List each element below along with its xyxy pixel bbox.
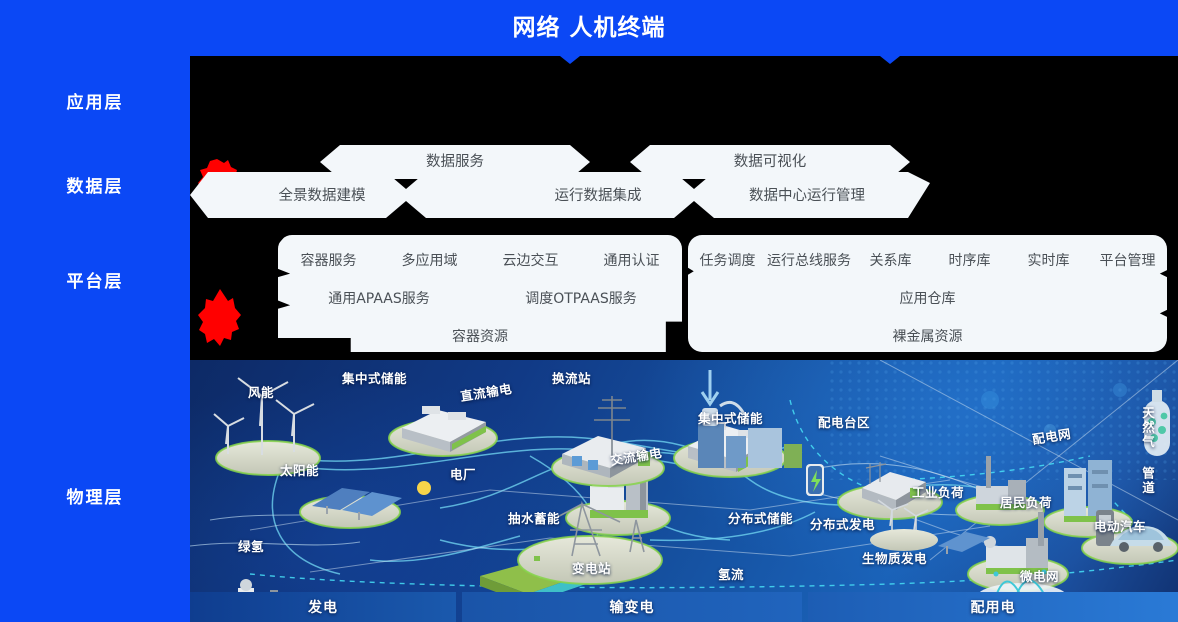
phys-label-pumped-storage: 抽水蓄能 [508, 508, 560, 527]
platform-item-multi-app-domain[interactable]: 多应用域 [379, 250, 480, 270]
phys-label-central-storage-2: 集中式储能 [698, 408, 763, 427]
platform-item-bare-metal[interactable]: 裸金属资源 [688, 326, 1167, 346]
platform-item-container-service[interactable]: 容器服务 [278, 250, 379, 270]
platform-right-row-services: 任务调度 运行总线服务 关系库 时序库 实时库 平台管理 [688, 247, 1167, 273]
section-band-transmission: 输变电 [462, 592, 802, 622]
stage-notch-left-icon [560, 56, 580, 64]
platform-item-cloud-edge[interactable]: 云边交互 [480, 250, 581, 270]
platform-left-row-services: 容器服务 多应用域 云边交互 通用认证 [278, 247, 682, 273]
chevron-label-data-service: 数据服务 [426, 153, 484, 170]
platform-item-relational-db[interactable]: 关系库 [851, 250, 930, 270]
platform-item-runtime-bus[interactable]: 运行总线服务 [767, 250, 851, 270]
phys-label-electric-vehicle: 电动汽车 [1094, 516, 1146, 535]
platform-right-row-resource: 裸金属资源 [688, 323, 1167, 349]
chevron-label-data-visualization: 数据可视化 [734, 153, 807, 170]
platform-item-app-repository[interactable]: 应用仓库 [688, 288, 1167, 308]
platform-item-otpaas[interactable]: 调度OTPAAS服务 [480, 288, 682, 308]
chevron-label-operation-integration: 运行数据集成 [555, 187, 642, 204]
phys-label-hydrogen-flow: 氢流 [718, 564, 744, 583]
chevron-label-panoramic-modeling: 全景数据建模 [279, 186, 366, 204]
phys-label-industrial-load: 工业负荷 [912, 482, 964, 501]
platform-item-realtime-db[interactable]: 实时库 [1009, 250, 1088, 270]
layer-label-application: 应用层 [0, 88, 190, 113]
phys-label-gas-pipeline: 天然气 管道 [1138, 406, 1157, 496]
stage-notch-right-icon [880, 56, 900, 64]
phys-label-distributed-gen: 分布式发电 [810, 514, 875, 533]
phys-label-solar: 太阳能 [280, 460, 319, 479]
phys-label-distribution-area: 配电台区 [818, 412, 870, 431]
red-blob-icon [197, 288, 243, 350]
section-band-distribution: 配用电 [808, 592, 1178, 622]
phys-label-wind: 风能 [248, 382, 274, 401]
platform-item-timeseries-db[interactable]: 时序库 [930, 250, 1009, 270]
physical-layer-illustration: 风能 集中式储能 直流输电 太阳能 电厂 抽水蓄能 绿氢 换流站 交流输电 集中… [190, 360, 1178, 622]
page-title: 网络 人机终端 [0, 8, 1178, 42]
layer-label-platform: 平台层 [0, 267, 190, 292]
phys-label-residential-load: 居民负荷 [1000, 492, 1052, 511]
platform-item-platform-mgmt[interactable]: 平台管理 [1088, 250, 1167, 270]
phys-label-biomass-power: 生物质发电 [862, 548, 927, 567]
layer-label-physical: 物理层 [0, 483, 190, 508]
layer-label-data: 数据层 [0, 172, 190, 197]
phys-label-substation: 变电站 [572, 558, 611, 577]
phys-label-power-plant: 电厂 [450, 464, 476, 483]
platform-item-apaas[interactable]: 通用APAAS服务 [278, 288, 480, 308]
platform-panel-container: 容器服务 多应用域 云边交互 通用认证 通用APAAS服务 调度OTPAAS服务… [278, 235, 682, 352]
platform-right-row-repo: 应用仓库 [688, 285, 1167, 311]
diagram-root: 网络 人机终端 应用层 数据层 平台层 物理层 数据服务 数据可视化 全景数据建… [0, 0, 1178, 622]
chevron-label-dc-operation-mgmt: 数据中心运行管理 [749, 187, 865, 204]
platform-panel-container: 任务调度 运行总线服务 关系库 时序库 实时库 平台管理 应用仓库 裸金属资源 [688, 235, 1167, 352]
phys-label-distributed-storage: 分布式储能 [728, 508, 793, 527]
phys-label-green-hydrogen: 绿氢 [238, 536, 264, 555]
platform-item-unified-auth[interactable]: 通用认证 [581, 250, 682, 270]
platform-left-row-paas: 通用APAAS服务 调度OTPAAS服务 [278, 285, 682, 311]
section-band-generation: 发电 [190, 592, 456, 622]
phys-label-central-storage-1: 集中式储能 [342, 368, 407, 387]
red-marker-platform-layer [197, 288, 243, 354]
data-layer-chevrons: 数据服务 数据可视化 全景数据建模 运行数据集成 数据中心运行管理 [190, 138, 1178, 224]
phys-label-converter-station: 换流站 [552, 368, 591, 387]
phys-label-microgrid: 微电网 [1020, 566, 1059, 585]
platform-item-task-schedule[interactable]: 任务调度 [688, 250, 767, 270]
